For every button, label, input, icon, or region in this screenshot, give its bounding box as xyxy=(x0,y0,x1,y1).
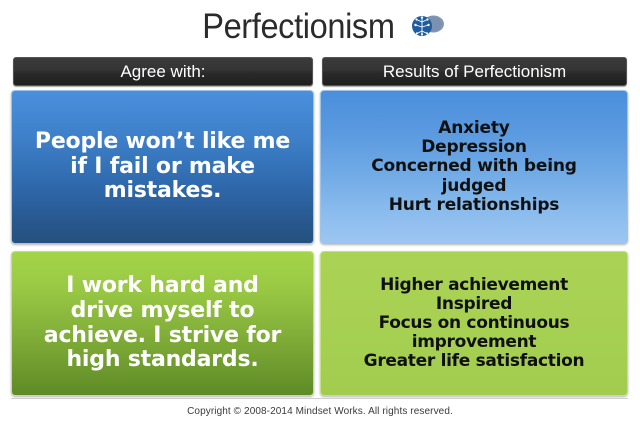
copyright-text: Copyright © 2008-2014 Mindset Works. All… xyxy=(187,406,453,417)
table-row: People won’t like me if I fail or make m… xyxy=(11,90,314,244)
column-header-label: Agree with: xyxy=(120,62,205,82)
table-row: Anxiety Depression Concerned with being … xyxy=(320,90,628,244)
table-row: I work hard and drive myself to achieve.… xyxy=(11,251,314,396)
column-header-agree-with: Agree with: xyxy=(13,57,313,86)
column-header-results: Results of Perfectionism xyxy=(322,57,627,86)
footer-divider xyxy=(11,398,628,399)
comparison-table: Agree with: Results of Perfectionism Peo… xyxy=(0,0,640,425)
results-text: Higher achievement Inspired Focus on con… xyxy=(364,276,585,371)
footer: Copyright © 2008-2014 Mindset Works. All… xyxy=(0,401,640,419)
belief-text: People won’t like me if I fail or make m… xyxy=(35,130,290,204)
results-text: Anxiety Depression Concerned with being … xyxy=(371,119,576,214)
belief-text: I work hard and drive myself to achieve.… xyxy=(44,274,281,373)
perfectionism-slide: Perfectionism xyxy=(0,0,640,425)
table-row: Higher achievement Inspired Focus on con… xyxy=(320,251,628,396)
column-header-label: Results of Perfectionism xyxy=(383,62,566,82)
